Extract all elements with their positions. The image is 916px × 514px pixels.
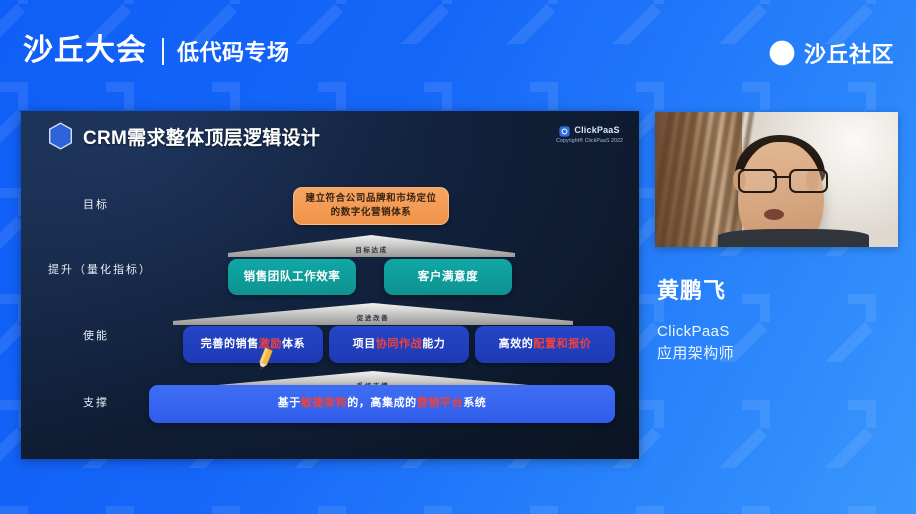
arrow-watermark-icon <box>702 394 776 468</box>
vendor-name: ClickPaaS <box>574 125 619 135</box>
foundation-box[interactable]: 基于敏捷架构的，高集成的营销平台系统 <box>149 385 615 423</box>
enabler-box-3-label: 高效的配置和报价 <box>499 337 592 353</box>
enabler-1-post: 体系 <box>282 338 305 350</box>
event-subtitle: 低代码专场 <box>177 42 290 64</box>
metric-box-1[interactable]: 销售团队工作效率 <box>228 259 356 295</box>
event-header: 沙丘大会 低代码专场 沙丘社区 <box>0 0 916 100</box>
community-logo-text: 沙丘社区 <box>804 37 894 69</box>
metric-box-2-label: 客户满意度 <box>418 269 479 286</box>
arrow-watermark-icon <box>808 288 882 362</box>
foundation-highlight-2: 营销平台 <box>417 397 463 409</box>
enabler-2-pre: 项目 <box>353 338 376 350</box>
vendor-copyright: Copyright® ClickPaaS 2022 <box>556 138 623 144</box>
person-glasses <box>738 169 826 189</box>
arrow-watermark-icon <box>66 500 140 514</box>
clickpaas-mark-icon <box>559 124 570 135</box>
band-improvement: 促进改善 <box>173 303 573 325</box>
row-label-foundation: 支撑 <box>83 394 109 410</box>
arrow-watermark-icon <box>702 500 776 514</box>
sandhill-s-mark-icon <box>769 40 795 66</box>
arrow-watermark-icon <box>278 500 352 514</box>
hexagon-icon <box>48 122 73 150</box>
enabler-box-1[interactable]: 完善的销售激励体系 <box>183 326 323 363</box>
band-goal-achievement: 目标达成 <box>228 235 515 257</box>
community-logo: 沙丘社区 <box>769 37 894 69</box>
enabler-3-pre: 高效的 <box>499 338 534 350</box>
enabler-2-highlight: 协同作战 <box>376 338 422 350</box>
foundation-mid: 的，高集成的 <box>347 397 417 409</box>
row-label-metrics: 提升（量化指标） <box>48 261 152 277</box>
arrow-watermark-icon <box>0 500 34 514</box>
speaker-webcam-video[interactable] <box>655 112 898 247</box>
arrow-watermark-icon <box>596 500 670 514</box>
arrow-watermark-icon <box>490 500 564 514</box>
band-improvement-label: 促进改善 <box>173 312 573 322</box>
arrow-watermark-icon <box>172 500 246 514</box>
enabler-2-post: 能力 <box>422 338 445 350</box>
enabler-box-2-label: 项目协同作战能力 <box>353 337 446 353</box>
event-title: 沙丘大会 <box>23 36 147 66</box>
foundation-pre: 基于 <box>278 397 301 409</box>
enabler-1-pre: 完善的销售 <box>201 338 259 350</box>
arrow-watermark-icon <box>808 500 882 514</box>
arrow-watermark-icon <box>384 500 458 514</box>
vendor-watermark: ClickPaaS Copyright® ClickPaaS 2022 <box>556 124 623 144</box>
speaker-role: 应用架构师 <box>657 343 734 365</box>
goal-box[interactable]: 建立符合公司品牌和市场定位 的数字化营销体系 <box>293 187 449 225</box>
enabler-3-highlight: 配置和报价 <box>533 338 591 350</box>
slide-title: CRM需求整体顶层逻辑设计 <box>83 123 320 150</box>
presentation-stage: 沙丘大会 低代码专场 沙丘社区 CRM需求整体顶层逻辑设计 <box>0 0 916 514</box>
enabler-box-2[interactable]: 项目协同作战能力 <box>329 326 469 363</box>
brand-divider <box>162 38 164 65</box>
row-label-goal: 目标 <box>83 196 109 212</box>
speaker-info: 黄鹏飞 ClickPaaS 应用架构师 <box>657 280 734 365</box>
person-shirt <box>718 229 869 247</box>
metric-box-2[interactable]: 客户满意度 <box>384 259 512 295</box>
band-goal-achievement-label: 目标达成 <box>228 244 515 254</box>
row-label-enablers: 使能 <box>83 327 109 343</box>
speaker-company: ClickPaaS <box>657 321 734 343</box>
slide-area[interactable]: CRM需求整体顶层逻辑设计 ClickPaaS Copyright® Click… <box>21 111 639 459</box>
event-brand: 沙丘大会 低代码专场 <box>23 36 290 66</box>
enabler-box-1-label: 完善的销售激励体系 <box>201 337 305 353</box>
goal-line-1: 建立符合公司品牌和市场定位 <box>305 192 436 206</box>
speaker-name: 黄鹏飞 <box>657 280 734 302</box>
foundation-box-label: 基于敏捷架构的，高集成的营销平台系统 <box>278 396 487 412</box>
goal-line-2: 的数字化营销体系 <box>331 206 412 220</box>
metric-box-1-label: 销售团队工作效率 <box>244 269 341 286</box>
arrow-watermark-icon <box>808 394 882 468</box>
slide-header: CRM需求整体顶层逻辑设计 <box>48 122 320 150</box>
foundation-highlight-1: 敏捷架构 <box>301 397 347 409</box>
pencil-highlighter-icon[interactable] <box>254 347 276 371</box>
foundation-post: 系统 <box>463 397 486 409</box>
enabler-box-3[interactable]: 高效的配置和报价 <box>475 326 615 363</box>
